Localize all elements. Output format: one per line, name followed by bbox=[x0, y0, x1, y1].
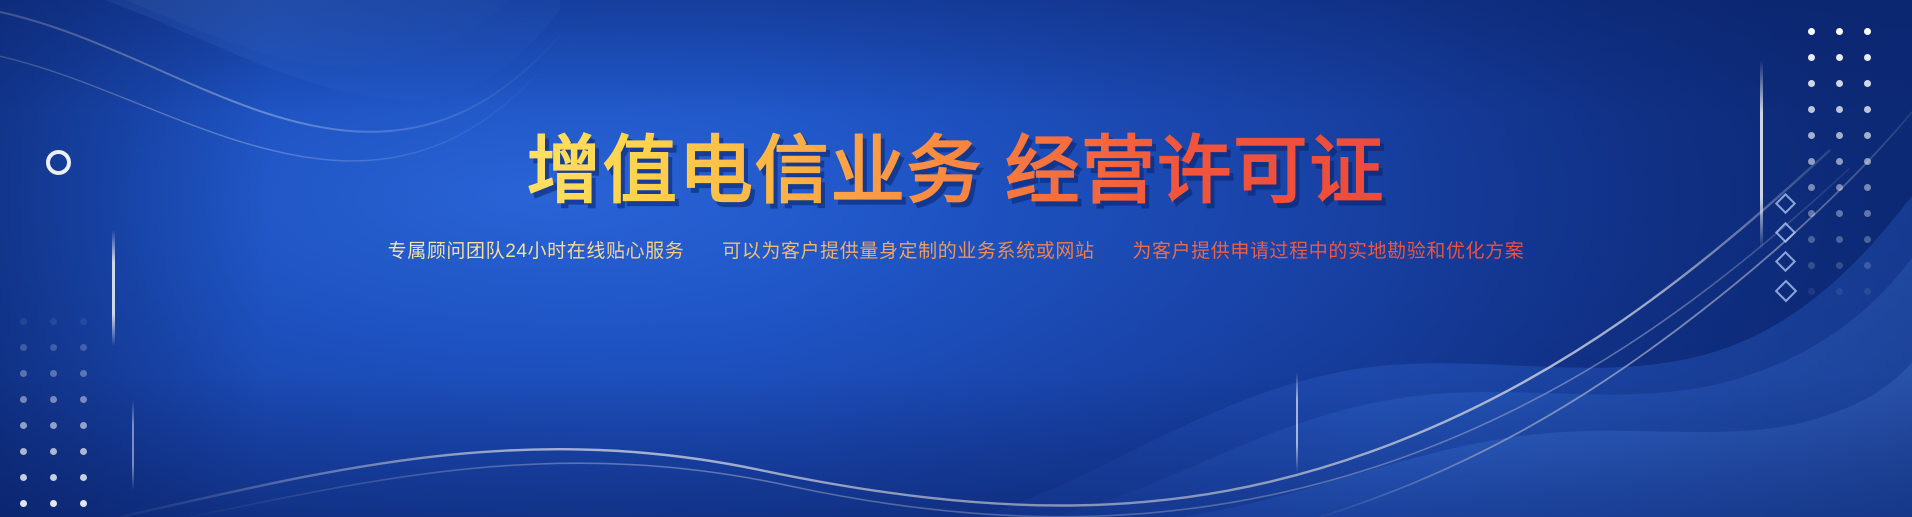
grid-dot bbox=[80, 474, 87, 481]
subtitle-part-3: 为客户提供申请过程中的实地勘验和优化方案 bbox=[1132, 241, 1524, 262]
grid-dot bbox=[20, 422, 27, 429]
grid-dot bbox=[20, 318, 27, 325]
banner-content: 增值电信业务 经营许可证 增值电信业务 经营许可证 专属顾问团队24小时在线贴心… bbox=[0, 132, 1912, 263]
grid-dot bbox=[1808, 262, 1815, 269]
grid-dot bbox=[1836, 288, 1843, 295]
grid-dot bbox=[80, 500, 87, 507]
grid-dot bbox=[1864, 288, 1871, 295]
subtitle-text: 专属顾问团队24小时在线贴心服务 可以为客户提供量身定制的业务系统或网站 为客户… bbox=[388, 236, 1525, 263]
grid-dot bbox=[50, 500, 57, 507]
promotional-banner: 增值电信业务 经营许可证 增值电信业务 经营许可证 专属顾问团队24小时在线贴心… bbox=[0, 0, 1912, 517]
grid-dot bbox=[1836, 106, 1843, 113]
grid-dot bbox=[1864, 28, 1871, 35]
grid-dot bbox=[20, 448, 27, 455]
grid-dot bbox=[20, 344, 27, 351]
grid-dot bbox=[20, 474, 27, 481]
page-title: 增值电信业务 经营许可证 bbox=[527, 132, 1386, 210]
grid-dot bbox=[50, 474, 57, 481]
grid-dot bbox=[50, 448, 57, 455]
grid-dot bbox=[80, 344, 87, 351]
subtitle-row: 专属顾问团队24小时在线贴心服务 可以为客户提供量身定制的业务系统或网站 为客户… bbox=[0, 210, 1912, 263]
grid-dot bbox=[80, 370, 87, 377]
grid-dot bbox=[50, 396, 57, 403]
grid-dot bbox=[1808, 80, 1815, 87]
grid-dot bbox=[1864, 106, 1871, 113]
grid-dot bbox=[1808, 288, 1815, 295]
grid-dot bbox=[1808, 28, 1815, 35]
vertical-accent-line bbox=[132, 400, 134, 490]
grid-dot bbox=[80, 422, 87, 429]
grid-dot bbox=[80, 318, 87, 325]
subtitle-part-1: 专属顾问团队24小时在线贴心服务 bbox=[388, 241, 685, 262]
grid-dot bbox=[1836, 28, 1843, 35]
grid-dot bbox=[1864, 262, 1871, 269]
grid-dot bbox=[50, 318, 57, 325]
vertical-accent-line bbox=[1296, 372, 1298, 472]
grid-dot bbox=[50, 344, 57, 351]
grid-dot bbox=[50, 422, 57, 429]
grid-dot bbox=[1836, 80, 1843, 87]
grid-dot bbox=[1864, 54, 1871, 61]
grid-dot bbox=[50, 370, 57, 377]
grid-dot bbox=[80, 396, 87, 403]
grid-dot bbox=[1808, 54, 1815, 61]
grid-dot bbox=[1864, 80, 1871, 87]
grid-dot bbox=[80, 448, 87, 455]
grid-dot bbox=[20, 500, 27, 507]
subtitle-part-2: 可以为客户提供量身定制的业务系统或网站 bbox=[722, 241, 1094, 262]
grid-dot bbox=[1836, 54, 1843, 61]
grid-dot bbox=[20, 396, 27, 403]
grid-dot bbox=[20, 370, 27, 377]
title-block: 增值电信业务 经营许可证 增值电信业务 经营许可证 bbox=[527, 132, 1386, 210]
grid-dot bbox=[1836, 262, 1843, 269]
grid-dot bbox=[1808, 106, 1815, 113]
